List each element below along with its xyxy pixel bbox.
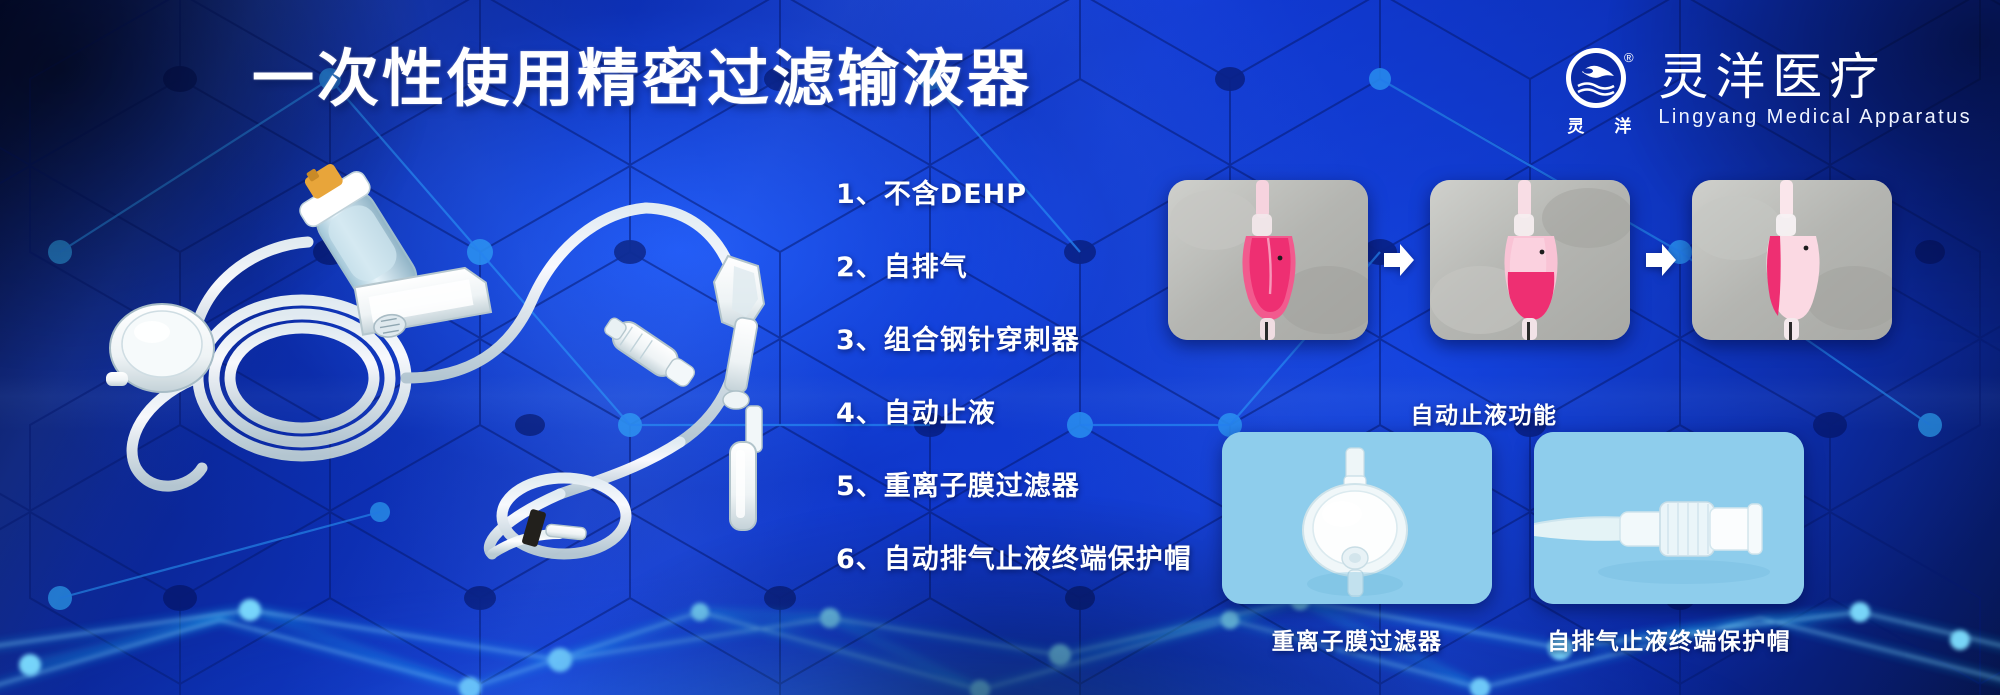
brand-text-block: 灵洋医疗 Lingyang Medical Apparatus — [1658, 52, 1972, 127]
component-caption-cap: 自排气止液终端保护帽 — [1534, 622, 1804, 656]
brand-seal-caption: 灵 洋 — [1567, 119, 1631, 136]
brand-seal-block: ® 灵 洋 — [1562, 42, 1636, 136]
inline-connector-part — [600, 311, 700, 392]
feature-item-5: 5、重离子膜过滤器 — [836, 464, 1192, 503]
feature-item-6: 6、自动排气止液终端保护帽 — [836, 537, 1192, 576]
component-caption-row: 重离子膜过滤器 自排气止液终端保护帽 — [1222, 622, 1804, 656]
page-title: 一次性使用精密过滤输液器 — [252, 48, 1032, 110]
demo-sequence-row — [1168, 180, 1892, 340]
component-card-cap — [1534, 432, 1804, 604]
product-photo — [40, 150, 800, 570]
component-card-filter — [1222, 432, 1492, 604]
protective-cap-part — [730, 442, 756, 530]
svg-text:®: ® — [1624, 50, 1634, 65]
brand-name-cn: 灵洋医疗 — [1658, 52, 1972, 102]
component-card-row — [1222, 432, 1804, 604]
brand-logo: ® 灵 洋 灵洋医疗 Lingyang Medical Apparatus — [1562, 42, 1972, 136]
round-filter-part — [106, 304, 214, 392]
feature-item-4: 4、自动止液 — [836, 391, 1192, 430]
demo-photo-step-3 — [1692, 180, 1892, 340]
sequence-arrow-1 — [1368, 242, 1430, 278]
brand-seal-char-left: 灵 — [1567, 119, 1584, 136]
feature-item-3: 3、组合钢针穿刺器 — [836, 318, 1192, 357]
feature-item-1: 1、不含DEHP — [836, 172, 1192, 211]
demo-sequence-caption: 自动止液功能 — [1168, 396, 1800, 430]
sequence-arrow-2 — [1630, 242, 1692, 278]
brand-name-en: Lingyang Medical Apparatus — [1658, 107, 1972, 127]
demo-photo-step-2 — [1430, 180, 1630, 340]
component-caption-filter: 重离子膜过滤器 — [1222, 622, 1492, 656]
brand-seal-char-right: 洋 — [1614, 119, 1631, 136]
needle-wings-part — [714, 256, 764, 452]
brand-seal-icon: ® — [1562, 42, 1636, 116]
product-banner: 一次性使用精密过滤输液器 ® 灵 洋 灵洋医疗 Ling — [0, 0, 2000, 695]
demo-photo-step-1 — [1168, 180, 1368, 340]
feature-list: 1、不含DEHP 2、自排气 3、组合钢针穿刺器 4、自动止液 5、重离子膜过滤… — [836, 172, 1192, 576]
feature-item-2: 2、自排气 — [836, 245, 1192, 284]
